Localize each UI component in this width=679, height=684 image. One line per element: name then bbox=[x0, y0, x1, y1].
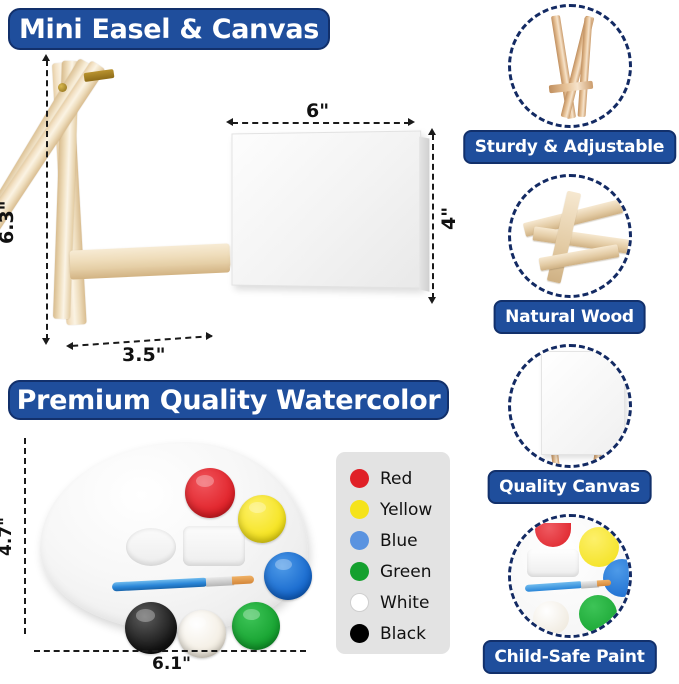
legend-label: Yellow bbox=[380, 500, 432, 520]
legend-item-white: White bbox=[350, 587, 450, 618]
dimension-arrow-up bbox=[428, 128, 436, 135]
canvas-board-illustration bbox=[232, 130, 422, 288]
paint-brush-bristles bbox=[232, 575, 254, 584]
paint-well-yellow bbox=[238, 495, 286, 543]
dimension-label-canvas-height: 4" bbox=[438, 207, 460, 230]
color-swatch-green-icon bbox=[350, 562, 369, 581]
dimension-line-canvas-height bbox=[432, 134, 434, 299]
color-swatch-yellow-icon bbox=[350, 500, 369, 519]
palette-thumb-well-green bbox=[579, 595, 617, 633]
banner-mini-easel-canvas: Mini Easel & Canvas bbox=[8, 8, 330, 50]
dimension-label-easel-width: 3.5" bbox=[122, 344, 166, 366]
feature-label: Sturdy & Adjustable bbox=[463, 130, 676, 164]
feature-highlights-column: Sturdy & Adjustable Natural Wood Quality… bbox=[460, 0, 679, 684]
paint-well-blue bbox=[264, 552, 312, 600]
color-swatch-blue-icon bbox=[350, 531, 369, 550]
feature-sturdy-adjustable: Sturdy & Adjustable bbox=[460, 2, 679, 173]
palette-mixing-well-round bbox=[126, 528, 176, 566]
dimension-arrow-up bbox=[42, 54, 50, 61]
dimension-label-palette-height: 4.7" bbox=[0, 517, 16, 556]
dimension-arrow-left bbox=[226, 118, 233, 126]
dimension-label-easel-height: 6.3" bbox=[0, 200, 18, 244]
color-swatch-red-icon bbox=[350, 469, 369, 488]
dimension-label-canvas-width: 6" bbox=[306, 100, 329, 122]
legend-item-green: Green bbox=[350, 556, 450, 587]
palette-thumb-well-white bbox=[533, 601, 569, 635]
dimension-arrow-left bbox=[66, 342, 73, 350]
dimension-line-palette-width bbox=[34, 650, 306, 652]
dimension-arrow-right bbox=[408, 118, 415, 126]
palette-mixing-well-rect bbox=[183, 526, 245, 566]
banner-premium-quality-watercolor: Premium Quality Watercolor bbox=[8, 380, 449, 420]
paint-palette-illustration bbox=[40, 442, 308, 632]
feature-natural-wood: Natural Wood bbox=[460, 172, 679, 343]
canvas-on-easel-icon bbox=[508, 344, 632, 468]
feature-quality-canvas: Quality Canvas bbox=[460, 342, 679, 513]
feature-label: Child-Safe Paint bbox=[482, 640, 656, 674]
dimension-arrow-right bbox=[206, 332, 213, 340]
wood-stick bbox=[538, 244, 619, 271]
easel-illustration bbox=[38, 57, 233, 347]
paint-palette-icon bbox=[508, 514, 632, 638]
legend-item-blue: Blue bbox=[350, 525, 450, 556]
infographic-page: Mini Easel & Canvas 6.3" 3.5" bbox=[0, 0, 679, 684]
legend-label: Green bbox=[380, 562, 431, 582]
palette-thumb-mixing-well bbox=[527, 549, 579, 577]
section-easel-canvas: 6.3" 3.5" 6" 4" bbox=[0, 52, 460, 377]
dimension-arrow-down bbox=[42, 338, 50, 345]
paint-well-black bbox=[125, 602, 177, 654]
dimension-line-palette-height bbox=[24, 438, 26, 634]
dimension-label-palette-width: 6.1" bbox=[152, 654, 191, 674]
canvas-board-edge bbox=[419, 137, 429, 292]
dimension-line-easel-height bbox=[46, 60, 48, 340]
color-legend-panel: Red Yellow Blue Green White Black bbox=[336, 452, 450, 654]
wood-sticks-icon bbox=[508, 174, 632, 298]
dimension-line-canvas-width bbox=[232, 122, 410, 124]
color-swatch-white-icon bbox=[350, 593, 369, 612]
paint-well-red bbox=[185, 468, 235, 518]
feature-child-safe-paint: Child-Safe Paint bbox=[460, 512, 679, 683]
legend-item-black: Black bbox=[350, 618, 450, 649]
dimension-arrow-down bbox=[428, 297, 436, 304]
legend-item-yellow: Yellow bbox=[350, 494, 450, 525]
paint-brush-handle bbox=[112, 577, 208, 591]
color-swatch-black-icon bbox=[350, 624, 369, 643]
feature-label: Natural Wood bbox=[493, 300, 646, 334]
legend-label: Red bbox=[380, 469, 412, 489]
palette-thumb-brush-bristles bbox=[596, 580, 610, 587]
brass-screw-icon bbox=[58, 83, 67, 92]
legend-item-red: Red bbox=[350, 463, 450, 494]
legend-label: White bbox=[380, 593, 429, 613]
legend-label: Blue bbox=[380, 531, 418, 551]
feature-label: Quality Canvas bbox=[487, 470, 652, 504]
easel-icon bbox=[508, 4, 632, 128]
canvas-thumb-face bbox=[541, 351, 625, 455]
legend-label: Black bbox=[380, 624, 426, 644]
paint-well-green bbox=[232, 602, 280, 650]
paint-brush-ferrule bbox=[206, 576, 234, 586]
